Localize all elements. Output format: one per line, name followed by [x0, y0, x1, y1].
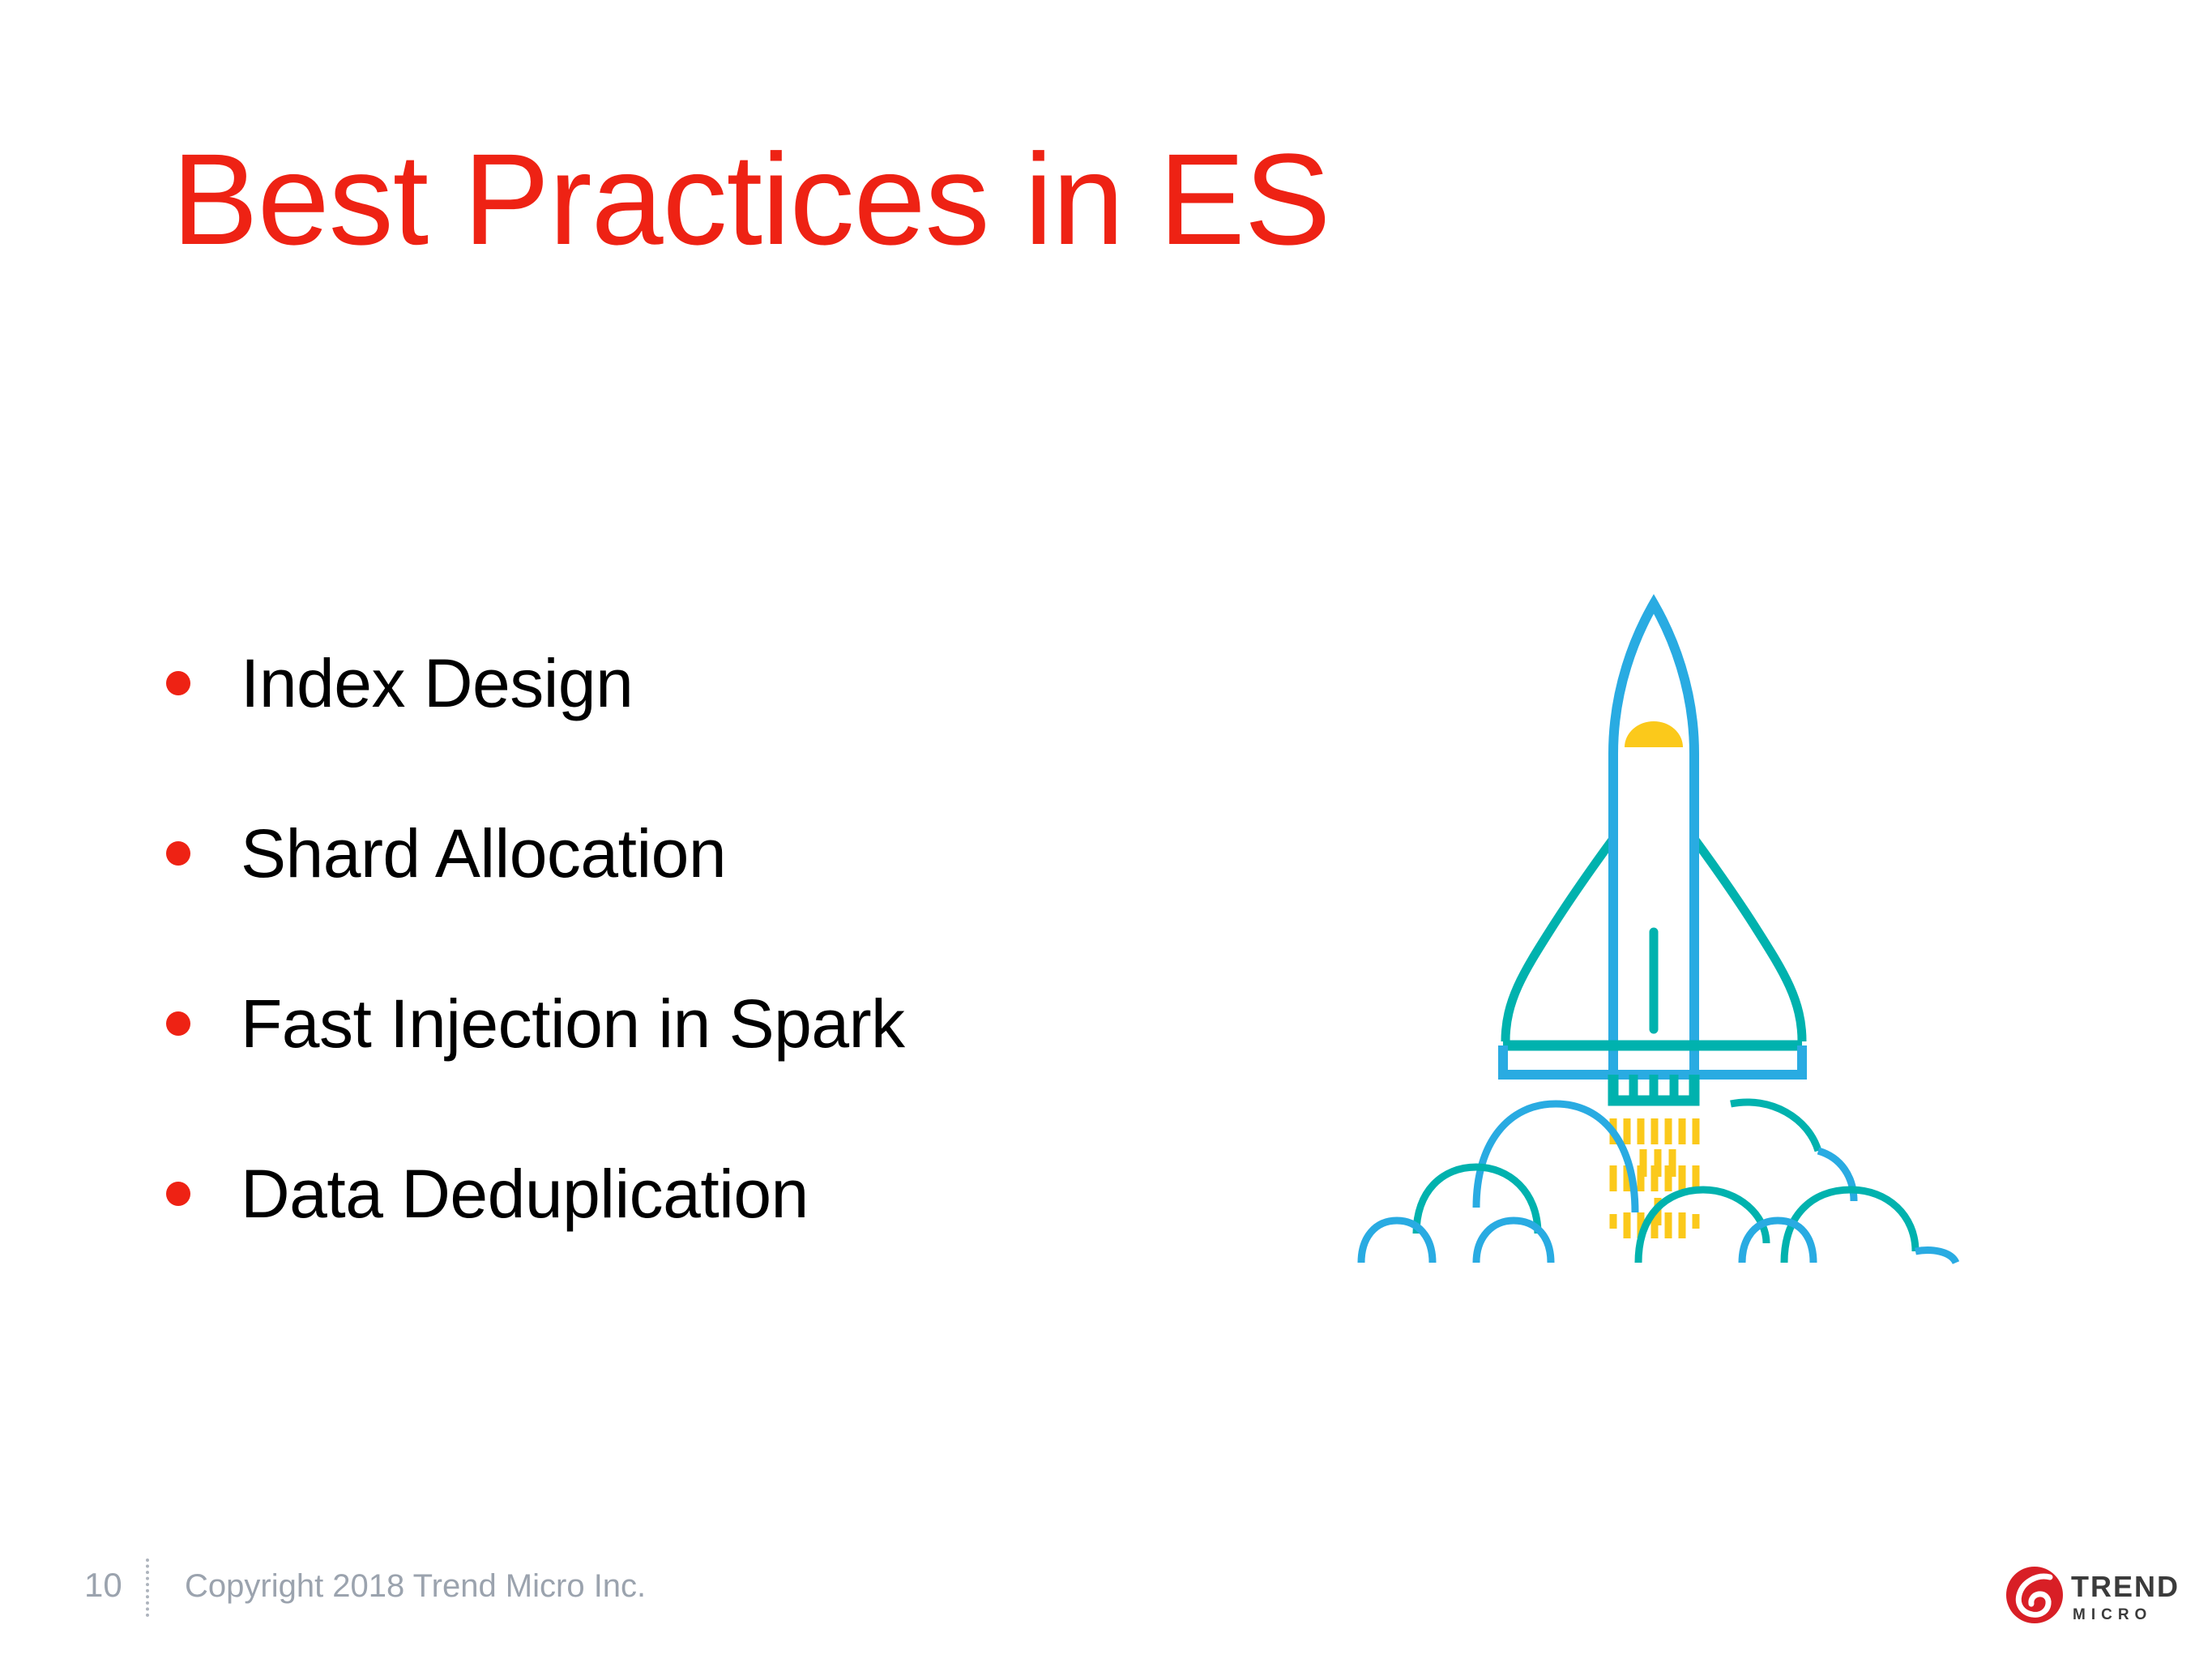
bullet-label: Fast Injection in Spark: [241, 990, 905, 1058]
bullet-list: Index Design Shard Allocation Fast Injec…: [166, 598, 1260, 1279]
page-title: Best Practices in ES: [172, 135, 1330, 264]
bullet-label: Shard Allocation: [241, 819, 726, 887]
list-item: Fast Injection in Spark: [166, 939, 1260, 1109]
bullet-dot-icon: [166, 1011, 190, 1036]
list-item: Shard Allocation: [166, 768, 1260, 939]
right-fin: [1694, 839, 1802, 1041]
bullet-label: Index Design: [241, 649, 633, 717]
copyright-text: Copyright 2018 Trend Micro Inc.: [185, 1570, 646, 1602]
slide-footer: 10 Copyright 2018 Trend Micro Inc.: [0, 1568, 2212, 1633]
cloud-arc: [1361, 1221, 1433, 1263]
list-item: Index Design: [166, 598, 1260, 768]
list-item: Data Deduplication: [166, 1109, 1260, 1279]
cloud-arc: [1476, 1221, 1551, 1263]
cloud-arc: [1731, 1102, 1818, 1151]
left-fin: [1505, 839, 1613, 1041]
bullet-dot-icon: [166, 1182, 190, 1206]
window: [1625, 721, 1683, 747]
bullet-dot-icon: [166, 841, 190, 866]
logo-wordmark-primary: TREND: [2071, 1570, 2180, 1603]
cloud-arc: [1742, 1221, 1813, 1263]
page-number: 10: [84, 1568, 122, 1602]
cloud-arc: [1915, 1251, 1956, 1263]
trend-micro-logo: TREND MICRO: [2001, 1558, 2189, 1632]
bullet-label: Data Deduplication: [241, 1160, 809, 1228]
cloud-arc: [1784, 1190, 1915, 1263]
bullet-dot-icon: [166, 671, 190, 695]
cloud-arc: [1638, 1190, 1766, 1263]
cloud-arc: [1476, 1104, 1635, 1212]
slide-canvas: Best Practices in ES Index Design Shard …: [0, 0, 2212, 1659]
smoke-clouds: [1329, 1054, 1993, 1264]
logo-wordmark-secondary: MICRO: [2073, 1606, 2152, 1623]
footer-divider: [146, 1559, 149, 1617]
